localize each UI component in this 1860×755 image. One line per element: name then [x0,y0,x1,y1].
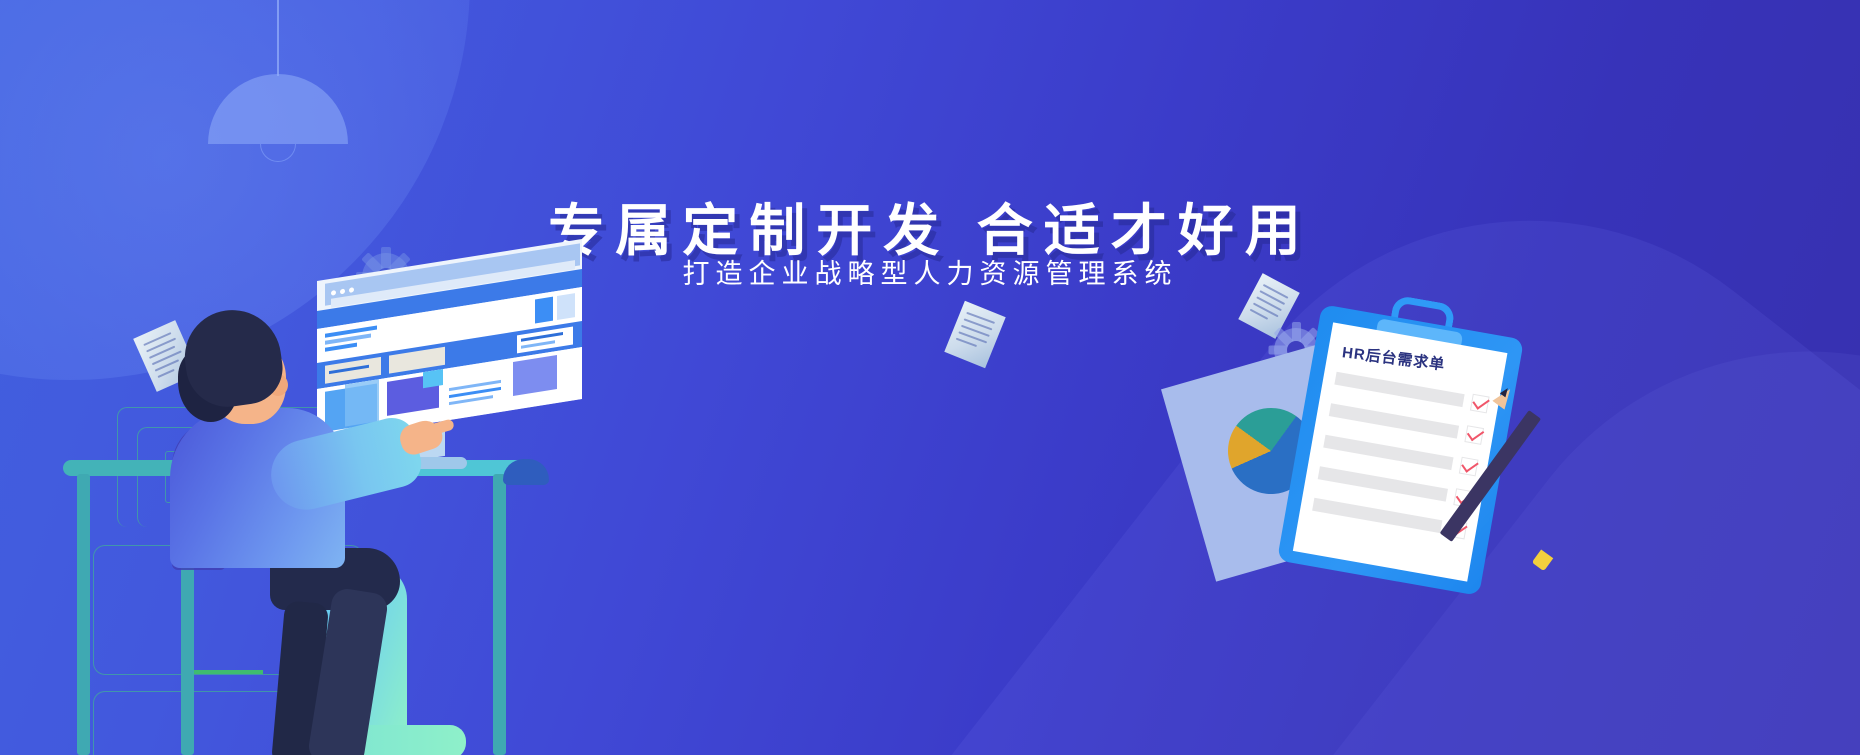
computer-mouse [503,459,549,485]
clipboard-title: HR后台需求单 [1341,341,1446,374]
checklist-row [1334,372,1464,407]
hanging-lamp-icon [208,0,348,165]
screen-card-badge [423,369,443,388]
lamp-cord [277,0,279,76]
desk-leg [493,474,506,755]
desk-leg [77,474,90,755]
checklist-row [1323,435,1453,470]
lamp-shade [208,74,348,144]
pencil-eraser [1532,549,1554,571]
screen-card [513,355,557,396]
clipboard: HR后台需求单 [1277,304,1524,596]
checklist-row [1318,466,1448,501]
illustration-person-at-desk [55,255,575,755]
hero-banner: 专属定制开发 合适才好用 打造企业战略型人力资源管理系统 [0,0,1860,755]
illustration-hr-clipboard: HR后台需求单 [1190,300,1620,720]
person-figure [150,310,410,740]
screen-thumbnail [557,293,575,320]
doc-right-icon [944,301,1005,368]
screen-thumbnail [535,297,553,324]
checklist-row [1312,498,1442,533]
lamp-bulb [260,144,296,162]
checklist-row [1329,403,1459,438]
